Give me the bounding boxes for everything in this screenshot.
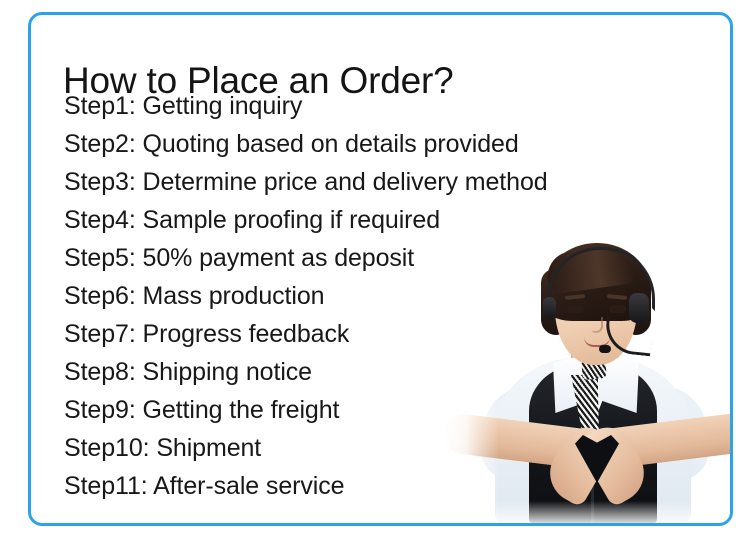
order-process-card: How to Place an Order? Step1: Getting in… — [28, 12, 733, 526]
order-steps-list: Step1: Getting inquiry Step2: Quoting ba… — [64, 87, 548, 505]
list-item: Step3: Determine price and delivery meth… — [64, 163, 548, 201]
list-item: Step4: Sample proofing if required — [64, 201, 548, 239]
list-item: Step2: Quoting based on details provided — [64, 125, 548, 163]
list-item: Step5: 50% payment as deposit — [64, 239, 548, 277]
list-item: Step8: Shipping notice — [64, 353, 548, 391]
list-item: Step9: Getting the freight — [64, 391, 548, 429]
list-item: Step6: Mass production — [64, 277, 548, 315]
list-item: Step1: Getting inquiry — [64, 87, 548, 125]
list-item: Step11: After-sale service — [64, 467, 548, 505]
list-item: Step10: Shipment — [64, 429, 548, 467]
screenshot-canvas: How to Place an Order? Step1: Getting in… — [0, 0, 750, 542]
headset-microphone-icon — [599, 345, 611, 353]
list-item: Step7: Progress feedback — [64, 315, 548, 353]
